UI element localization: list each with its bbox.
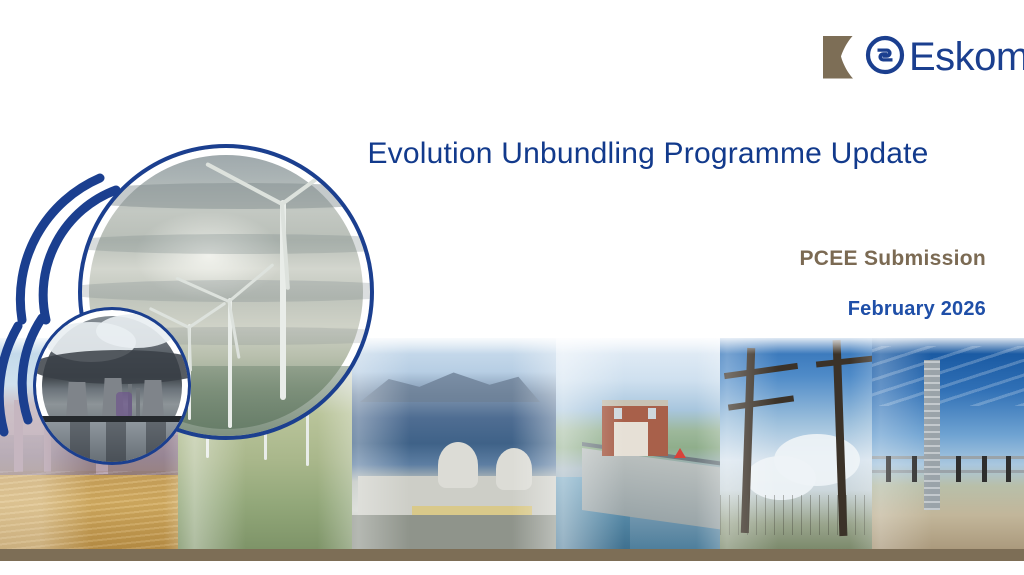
hydro-dam-photo <box>556 338 746 549</box>
title-slide: Eskom Evolution Unbundling Programme Upd… <box>0 0 1024 575</box>
distribution-power-lines-photo <box>720 338 896 549</box>
eskom-bracket-icon <box>823 36 853 79</box>
slide-title: Evolution Unbundling Programme Update <box>300 136 996 172</box>
eskom-wordmark: Eskom <box>909 37 1024 77</box>
coal-power-station-cooling-towers-photo <box>33 307 191 465</box>
slide-date: February 2026 <box>848 298 986 321</box>
eskom-swirl-icon <box>865 35 905 80</box>
eskom-logo: Eskom <box>823 34 995 80</box>
slide-subtitle: PCEE Submission <box>799 247 986 271</box>
nuclear-station-coastal-photo <box>352 338 582 549</box>
transmission-substation-photo <box>872 338 1024 549</box>
brown-accent-bar <box>0 549 1024 561</box>
